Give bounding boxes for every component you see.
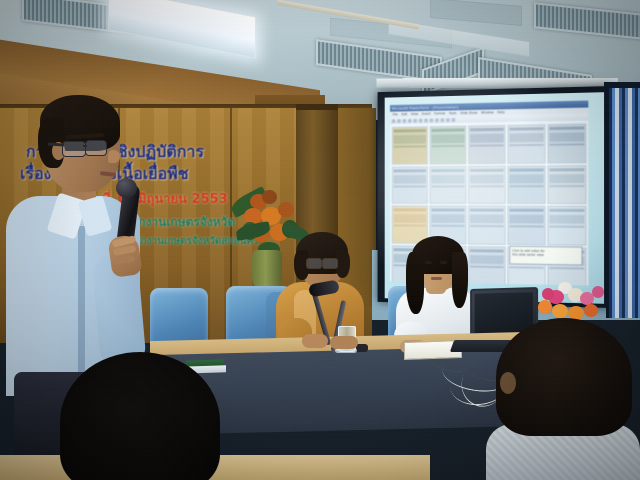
slide-thumbnail-band (431, 208, 464, 211)
slide-thumbnail-band (509, 168, 543, 171)
slide-thumbnail[interactable] (547, 123, 586, 163)
toolbar-icon (419, 118, 423, 122)
slide-thumbnail[interactable] (430, 166, 467, 204)
slide-thumbnail-band (394, 185, 426, 187)
slide-thumbnail-band (509, 185, 543, 187)
slide-thumbnail-band (431, 214, 464, 223)
slide-thumbnail-band (549, 168, 584, 171)
flower-petal (584, 304, 598, 317)
slide-thumbnail-band (470, 144, 504, 146)
slide-thumbnail[interactable] (547, 165, 586, 204)
slide-thumbnail-band (394, 175, 426, 184)
toolbar-icon (441, 118, 445, 122)
slide-thumbnail-band (394, 225, 426, 227)
slide-thumbnail-band (549, 209, 584, 212)
slide-thumbnail[interactable] (468, 125, 505, 164)
slide-thumbnail[interactable] (392, 166, 428, 204)
slide-thumbnail-band (549, 132, 584, 141)
slide-thumbnail-band (470, 134, 504, 143)
eyeglasses-icon (62, 141, 86, 157)
slide-thumbnail-band (470, 225, 504, 227)
speaker-nose (108, 150, 120, 163)
menu-item: File (393, 113, 398, 117)
slide-thumbnail-band (431, 169, 464, 172)
menu-item: Window (481, 110, 494, 114)
flower-petal (278, 202, 294, 217)
slide-thumbnail-band (509, 209, 543, 212)
flower-petal (542, 288, 554, 300)
slide-thumbnail-band (431, 128, 464, 131)
slide-callout: Click to add notes for this slide sorter… (509, 246, 582, 266)
toolbar-icon (413, 118, 417, 122)
slide-thumbnail[interactable] (430, 126, 467, 164)
slide-thumbnail[interactable] (507, 206, 545, 245)
slide-thumbnail-band (394, 169, 426, 172)
vertical-blinds (606, 88, 640, 318)
slide-thumbnail-band (549, 226, 584, 228)
slide-thumbnail-band (470, 174, 504, 183)
toolbar-icon (446, 118, 450, 122)
slide-thumbnail-band (549, 174, 584, 183)
menu-item: Help (497, 110, 504, 114)
slide-thumbnail-band (470, 249, 504, 252)
panelist-a-hand (302, 334, 328, 348)
eyeglasses-icon (306, 258, 322, 269)
slide-thumbnail-band (509, 133, 543, 142)
callout-line-2: this slide sorter view (512, 253, 579, 259)
slide-thumbnail-band (394, 214, 426, 223)
toolbar-icon (424, 118, 428, 122)
slide-thumbnail-band (470, 209, 504, 212)
slide-thumbnail[interactable] (507, 165, 545, 204)
flower-petal (538, 300, 552, 314)
slide-thumbnail-band (431, 145, 464, 147)
panelist-b-hair (452, 252, 468, 308)
slide-thumbnail-band (431, 174, 464, 183)
menu-item: Edit (401, 112, 407, 116)
flower-petal (262, 190, 277, 204)
toolbar-icon (435, 118, 439, 122)
eyeglasses-bridge (83, 145, 87, 147)
slide-thumbnail-band (509, 144, 543, 146)
panelist-b-eye (425, 261, 432, 264)
slide-thumbnail-band (431, 225, 464, 227)
slide-thumbnail-band (509, 225, 543, 227)
slide-thumbnail-band (509, 266, 543, 269)
photo-scene: การฝึกอบรมเชิงปฏิบัติการ เรื่อง การเลี้ย… (0, 0, 640, 480)
slide-thumbnail[interactable] (468, 165, 505, 204)
toolbar-icon (408, 118, 412, 122)
eyeglasses-icon (322, 258, 338, 269)
slide-thumbnail-band (549, 215, 584, 224)
slide-thumbnail[interactable] (392, 126, 428, 164)
slide-thumbnail-band (470, 255, 504, 264)
slide-thumbnail-band (394, 145, 426, 147)
flower-petal (592, 286, 604, 298)
slide-thumbnail-band (470, 265, 504, 268)
slide-thumbnail-band (509, 174, 543, 183)
eyeglasses-icon (85, 140, 107, 156)
slide-thumbnail-band (431, 185, 464, 187)
slide-thumbnail-band (394, 129, 426, 132)
slide-thumbnail-band (394, 135, 426, 144)
toolbar-icon (452, 118, 456, 122)
toolbar-icon (430, 118, 434, 122)
audience-ear (500, 372, 516, 394)
panelist-a-hair (336, 250, 350, 278)
slide-thumbnail-band (470, 168, 504, 171)
toolbar-icon (403, 119, 407, 123)
slide-thumbnail[interactable] (507, 124, 545, 163)
menu-item: View (411, 112, 418, 116)
slide-thumbnail-band (470, 185, 504, 187)
slide-thumbnail-band (509, 215, 543, 224)
toolbar-icon (397, 119, 401, 123)
slide-thumbnail-band (394, 208, 426, 211)
slide-thumbnail[interactable] (468, 246, 505, 285)
menu-item: Tools (449, 111, 457, 115)
toolbar-icon (392, 119, 396, 123)
slide-thumbnail-band (470, 128, 504, 131)
panelist-b-hair (406, 252, 424, 314)
wall-right-panel (336, 108, 376, 308)
menu-item: Format (434, 112, 445, 116)
menu-item: Insert (422, 112, 431, 116)
audience-head-right (496, 318, 632, 436)
slide-thumbnail-band (431, 134, 464, 143)
panelist-b-mouth (431, 277, 442, 280)
menu-item: Slide Show (460, 111, 477, 115)
flower-vase (252, 250, 282, 290)
panelist-a-hand (330, 336, 358, 349)
panelist-b-eye (440, 261, 447, 264)
speaker-shirt-placket (78, 226, 85, 376)
slide-thumbnail-band (549, 185, 584, 187)
slide-thumbnail-band (549, 143, 584, 145)
slide-thumbnail[interactable] (392, 206, 428, 244)
audience-head-left (60, 352, 220, 480)
slide-thumbnail[interactable] (547, 206, 586, 245)
slide-thumbnail-band (470, 214, 504, 223)
slide-thumbnail[interactable] (468, 206, 505, 245)
slide-thumbnail-band (549, 126, 584, 130)
slide-thumbnail-band (549, 266, 584, 269)
slide-thumbnail-band (509, 127, 543, 131)
flower-petal (552, 304, 568, 318)
